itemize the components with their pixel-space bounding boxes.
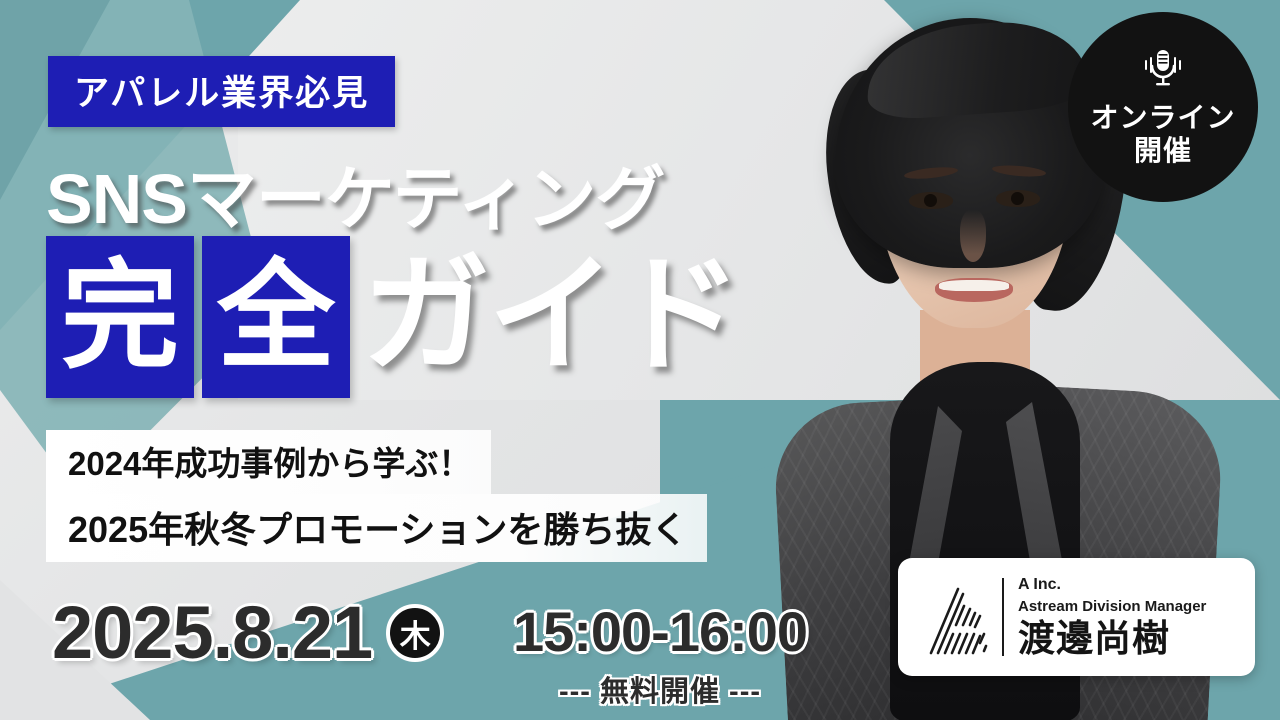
pupil-left <box>924 194 937 207</box>
teeth <box>939 280 1009 291</box>
kicker-badge: アパレル業界必見 <box>48 56 395 127</box>
pupil-right <box>1011 192 1024 205</box>
speaker-name: 渡邊尚樹 <box>1018 619 1241 660</box>
weekday-badge: 木 <box>386 604 444 662</box>
subtitle-line-1: 2024年成功事例から学ぶ！ <box>46 430 491 494</box>
headline-kana: ガイド <box>362 236 740 396</box>
event-time-block: 15:00-16:00 --- 無料開催 --- <box>500 604 820 710</box>
headline-group: 完 全 ガイド <box>46 236 740 398</box>
striped-triangle-logo-icon <box>912 575 998 659</box>
online-badge-line-2: 開催 <box>1134 135 1192 167</box>
online-badge-line-1: オンライン <box>1090 102 1235 134</box>
speaker-card: A Inc. Astream Division Manager 渡邊尚樹 <box>898 558 1255 676</box>
nose <box>960 210 986 262</box>
online-event-badge: オンライン 開催 <box>1068 12 1258 202</box>
mouth <box>935 278 1013 302</box>
headline-kanji-box-1: 完 <box>46 236 194 398</box>
speaker-role: Astream Division Manager <box>1018 596 1241 618</box>
price-note: --- 無料開催 --- <box>500 668 820 710</box>
speaker-info: A Inc. Astream Division Manager 渡邊尚樹 <box>1018 574 1241 659</box>
speaker-company: A Inc. <box>1018 574 1241 596</box>
webinar-banner: オンライン 開催 アパレル業界必見 SNSマーケティング 完 全 ガイド 202… <box>0 0 1280 720</box>
card-divider <box>1002 578 1004 656</box>
headline-kanji-box-2: 全 <box>202 236 350 398</box>
page-title: SNSマーケティング <box>46 143 664 244</box>
event-date-row: 2025.8.21 木 <box>52 596 444 670</box>
event-date: 2025.8.21 <box>52 596 372 670</box>
microphone-icon <box>1136 47 1190 96</box>
subtitle-line-2: 2025年秋冬プロモーションを勝ち抜く <box>46 494 707 562</box>
event-time: 15:00-16:00 <box>500 604 820 660</box>
